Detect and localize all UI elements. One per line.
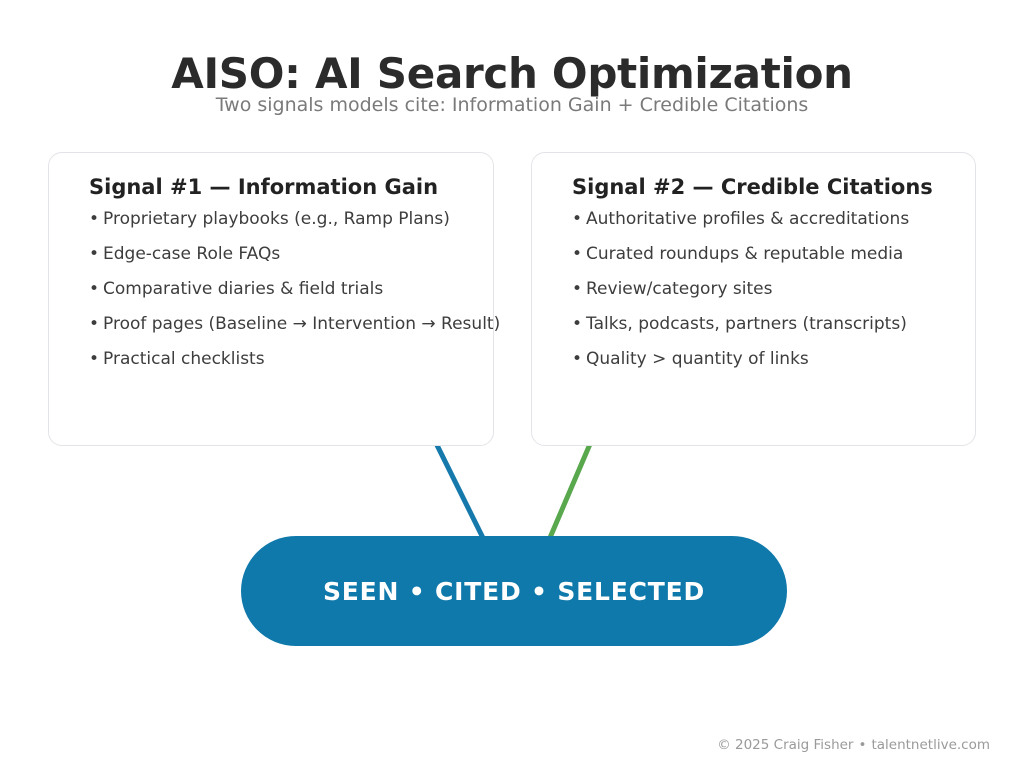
bullet-icon: •	[89, 351, 103, 368]
footer-site: talentnetlive.com	[871, 737, 990, 753]
footer-copyright: © 2025 Craig Fisher	[717, 737, 853, 753]
bullet-icon: •	[89, 246, 103, 263]
list-item: •Comparative diaries & field trials	[89, 281, 500, 316]
page-subtitle: Two signals models cite: Information Gai…	[0, 94, 1024, 118]
list-item-label: Proof pages (Baseline → Intervention → R…	[103, 314, 500, 334]
footer: © 2025 Craig Fisher•talentnetlive.com	[717, 737, 990, 753]
list-item: •Proprietary playbooks (e.g., Ramp Plans…	[89, 211, 500, 246]
card-signal-1: Signal #1 — Information Gain •Proprietar…	[48, 152, 494, 446]
slide-canvas: AISO: AI Search Optimization Two signals…	[0, 0, 1024, 773]
list-item: •Proof pages (Baseline → Intervention → …	[89, 316, 500, 351]
list-item-label: Quality > quantity of links	[586, 349, 809, 369]
list-item: •Talks, podcasts, partners (transcripts)	[572, 316, 909, 351]
bullet-icon: •	[89, 316, 103, 333]
bullet-icon: •	[572, 316, 586, 333]
list-item-label: Proprietary playbooks (e.g., Ramp Plans)	[103, 209, 450, 229]
card-signal-1-bullet-list: •Proprietary playbooks (e.g., Ramp Plans…	[89, 211, 500, 386]
bullet-icon: •	[572, 281, 586, 298]
card-signal-2-bullet-list: •Authoritative profiles & accreditations…	[572, 211, 909, 386]
list-item-label: Authoritative profiles & accreditations	[586, 209, 909, 229]
list-item: •Review/category sites	[572, 281, 909, 316]
list-item: •Edge-case Role FAQs	[89, 246, 500, 281]
bullet-icon: •	[572, 211, 586, 228]
list-item-label: Talks, podcasts, partners (transcripts)	[586, 314, 907, 334]
page-title: AISO: AI Search Optimization	[0, 52, 1024, 96]
list-item-label: Review/category sites	[586, 279, 772, 299]
list-item: •Curated roundups & reputable media	[572, 246, 909, 281]
outcome-pill: SEEN • CITED • SELECTED	[241, 536, 787, 646]
list-item-label: Comparative diaries & field trials	[103, 279, 383, 299]
list-item-label: Practical checklists	[103, 349, 265, 369]
card-signal-2: Signal #2 — Credible Citations •Authorit…	[531, 152, 976, 446]
bullet-icon: •	[89, 281, 103, 298]
list-item-label: Edge-case Role FAQs	[103, 244, 280, 264]
credible-citations-connector	[549, 437, 593, 540]
outcome-pill-label: SEEN • CITED • SELECTED	[241, 536, 787, 646]
information-gain-connector	[433, 437, 484, 540]
list-item: •Authoritative profiles & accreditations	[572, 211, 909, 246]
list-item: •Quality > quantity of links	[572, 351, 909, 386]
card-signal-1-heading: Signal #1 — Information Gain	[89, 175, 438, 199]
list-item-label: Curated roundups & reputable media	[586, 244, 903, 264]
list-item: •Practical checklists	[89, 351, 500, 386]
bullet-icon: •	[572, 246, 586, 263]
bullet-icon: •	[89, 211, 103, 228]
footer-separator: •	[853, 737, 871, 753]
bullet-icon: •	[572, 351, 586, 368]
card-signal-2-heading: Signal #2 — Credible Citations	[572, 175, 933, 199]
